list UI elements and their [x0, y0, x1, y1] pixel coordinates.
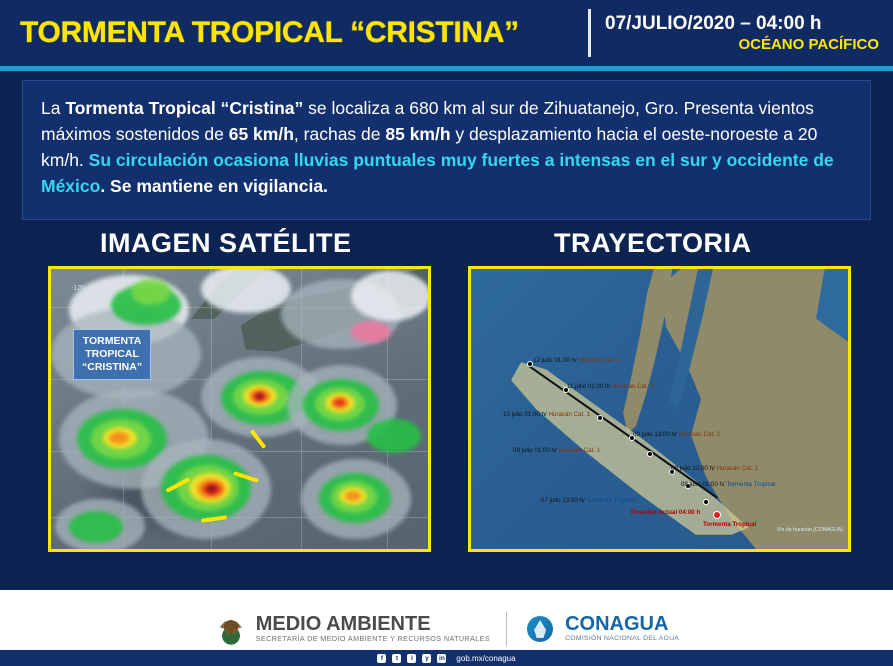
conagua-logo-icon — [523, 612, 557, 646]
track-label: 11 julio 01:00 h/ Huracán Cat. 1 — [567, 383, 654, 390]
current-position-label-line2: Tormenta Tropical — [703, 521, 756, 528]
footer-url[interactable]: gob.mx/conagua — [456, 654, 515, 663]
cloud-mass — [351, 271, 431, 321]
conagua-sub-label: COMISIÓN NACIONAL DEL AGUA — [565, 634, 679, 644]
header-date: 07/JULIO/2020 – 04:00 h — [605, 13, 822, 35]
brand-sub-label: SECRETARÍA DE MEDIO AMBIENTE Y RECURSOS … — [256, 634, 490, 644]
track-label: 12 julio 01:00 h/ Huracán Cat. 1 — [533, 357, 620, 364]
summary-seg-1: La — [41, 98, 65, 118]
summary-text: La Tormenta Tropical “Cristina” se local… — [41, 95, 852, 199]
brand-main-label: MEDIO AMBIENTE — [256, 614, 490, 634]
header-divider — [588, 9, 591, 57]
cloud-mass — [201, 266, 291, 313]
track-node — [647, 451, 653, 457]
cloud-mass — [131, 279, 171, 305]
header-meta: 07/JULIO/2020 – 04:00 h OCÉANO PACÍFICO — [591, 0, 893, 66]
geo-tick-label: -120 — [71, 285, 85, 292]
footer-separator — [506, 612, 507, 646]
cloud-mass — [69, 511, 123, 543]
brand-medio-ambiente: MEDIO AMBIENTE SECRETARÍA DE MEDIO AMBIE… — [214, 612, 490, 646]
satellite-image-panel: TORMENTA TROPICAL “CRISTINA” -120 25 — [48, 266, 431, 552]
current-position-label-line1: Posición Actual 04:00 h — [631, 509, 700, 516]
conagua-main-label: CONAGUA — [565, 614, 679, 634]
infographic-page: TORMENTA TROPICAL “CRISTINA” 07/JULIO/20… — [0, 0, 893, 666]
youtube-icon[interactable]: y — [422, 654, 431, 663]
current-position-node — [713, 511, 721, 519]
summary-seg-5: , rachas de — [294, 124, 385, 144]
satellite-panel-title: IMAGEN SATÉLITE — [100, 228, 352, 259]
satellite-storm-label: TORMENTA TROPICAL “CRISTINA” — [73, 329, 151, 380]
track-node — [597, 415, 603, 421]
page-title: TORMENTA TROPICAL “CRISTINA” — [0, 0, 588, 66]
cloud-mass — [367, 419, 421, 453]
storm-core — [334, 399, 345, 406]
summary-seg-9: . Se mantiene en vigilancia. — [100, 176, 328, 196]
map-credit: Vía de huracán (CONAGUA) — [777, 527, 843, 533]
cloud-mass — [351, 321, 391, 343]
eagle-seal-icon — [214, 612, 248, 646]
storm-core-dark — [207, 486, 216, 492]
facebook-icon[interactable]: f — [377, 654, 386, 663]
track-label: 09 julio 01:00 h/ Huracán Cat. 1 — [513, 447, 600, 454]
summary-box: La Tormenta Tropical “Cristina” se local… — [22, 80, 871, 220]
linkedin-icon[interactable]: in — [437, 654, 446, 663]
track-label: 09 julio 13:00 h/ Huracán Cat. 2 — [633, 431, 720, 438]
instagram-icon[interactable]: i — [407, 654, 416, 663]
twitter-icon[interactable]: t — [392, 654, 401, 663]
track-label: 10 julio 01:00 h/ Huracán Cat. 1 — [503, 411, 590, 418]
summary-winds: 65 km/h — [229, 124, 294, 144]
track-label: 08 julio 13:00 h/ Huracán Cat. 1 — [671, 465, 758, 472]
trajectory-panel-title: TRAYECTORIA — [554, 228, 752, 259]
footer-social-bar: f t i y in gob.mx/conagua — [0, 650, 893, 666]
brand-conagua: CONAGUA COMISIÓN NACIONAL DEL AGUA — [523, 612, 679, 646]
summary-storm-name: Tormenta Tropical “Cristina” — [65, 98, 303, 118]
geo-tick-label: 25 — [73, 299, 81, 306]
trajectory-map-panel: 12 julio 01:00 h/ Huracán Cat. 1 11 juli… — [468, 266, 851, 552]
cloud-mass — [109, 432, 129, 444]
track-label: 08 julio 01:00 h/ Tormenta Tropical — [681, 481, 776, 488]
header-underline — [0, 66, 893, 71]
footer-brands: MEDIO AMBIENTE SECRETARÍA DE MEDIO AMBIE… — [214, 612, 680, 646]
header-ocean: OCÉANO PACÍFICO — [738, 35, 893, 54]
track-label: 07 julio 13:00 h/ Tormenta Tropical — [541, 497, 636, 504]
summary-gusts: 85 km/h — [385, 124, 450, 144]
cloud-mass — [345, 491, 361, 501]
header: TORMENTA TROPICAL “CRISTINA” 07/JULIO/20… — [0, 0, 893, 66]
track-node — [703, 499, 709, 505]
storm-core-dark — [256, 394, 263, 399]
